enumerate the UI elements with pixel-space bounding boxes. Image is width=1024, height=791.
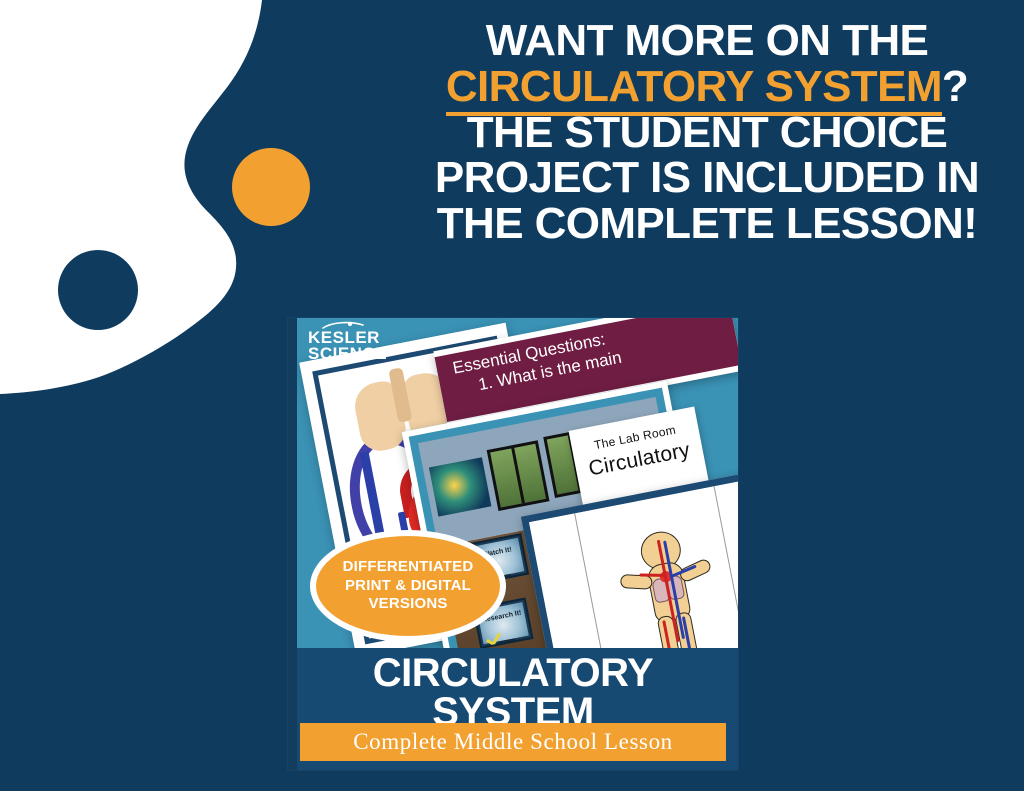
badge-line-1: DIFFERENTIATED — [343, 558, 474, 577]
cover-title: CIRCULATORY SYSTEM — [288, 654, 738, 732]
badge-line-2: PRINT & DIGITAL — [345, 577, 471, 596]
body-figure-center — [612, 524, 726, 648]
nebula-image — [429, 457, 492, 516]
brand-line-3: .com — [308, 364, 387, 369]
white-blob-shape — [0, 0, 262, 394]
page-title: WANT MORE ON THE CIRCULATORY SYSTEM? THE… — [400, 18, 1014, 247]
brand-logo: KESLER SCIENCE .com — [308, 330, 387, 368]
brand-line-2: SCIENCE — [308, 346, 387, 362]
cover-title-line-1: CIRCULATORY — [288, 654, 738, 693]
headline-line-2: CIRCULATORY SYSTEM? — [400, 64, 1014, 110]
worksheet-divider — [574, 513, 616, 648]
navy-accent-circle — [58, 250, 138, 330]
headline-accent-suffix: ? — [942, 62, 968, 111]
badge-line-3: VERSIONS — [368, 595, 447, 614]
cover-left-rail — [288, 318, 297, 770]
headline-line-3: THE STUDENT CHOICE — [400, 110, 1014, 156]
product-cover-card[interactable]: KESLER SCIENCE .com — [288, 318, 738, 770]
window-image-1 — [487, 440, 550, 511]
cover-ribbon: Complete Middle School Lesson — [300, 723, 726, 761]
headline-line-5: THE COMPLETE LESSON! — [400, 201, 1014, 247]
cover-artwork: KESLER SCIENCE .com — [288, 318, 738, 648]
headline-line-1: WANT MORE ON THE — [400, 18, 1014, 64]
cover-footer: CIRCULATORY SYSTEM Complete Middle Schoo… — [288, 648, 738, 770]
headline-line-4: PROJECT IS INCLUDED IN — [400, 155, 1014, 201]
promotional-graphic: WANT MORE ON THE CIRCULATORY SYSTEM? THE… — [0, 0, 1024, 791]
status-badge: DIFFERENTIATED PRINT & DIGITAL VERSIONS — [310, 530, 506, 642]
orange-accent-circle — [232, 148, 310, 226]
figure-artery-arm — [639, 573, 665, 576]
